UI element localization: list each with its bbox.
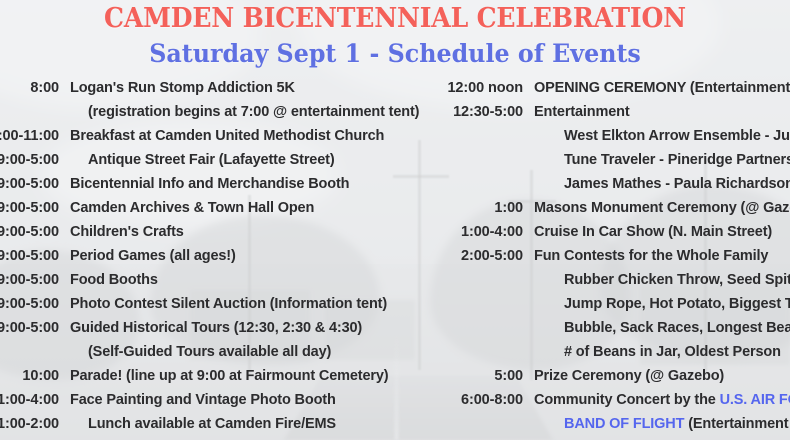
schedule-row: 2:00-5:00Fun Contests for the Whole Fami… [430,248,790,272]
schedule-row: 1:00Masons Monument Ceremony (@ Gazebo) [430,200,790,224]
schedule-row: James Mathes - Paula Richardson [430,176,790,200]
event-time: 10:00 [0,368,70,384]
event-time: 2:00-5:00 [430,248,534,264]
event-time: 9:00-5:00 [0,200,70,216]
schedule-row: 8:00Logan's Run Stomp Addiction 5K [0,80,426,104]
schedule-column-morning: 8:00Logan's Run Stomp Addiction 5K(regis… [0,80,426,440]
schedule-row: 5:00Prize Ceremony (@ Gazebo) [430,368,790,392]
schedule-row: 9:00-5:00Camden Archives & Town Hall Ope… [0,200,426,224]
event-name: Photo Contest Silent Auction (Informatio… [70,296,387,312]
schedule-row: 9:00-5:00Food Booths [0,272,426,296]
event-name: Masons Monument Ceremony (@ Gazebo) [534,200,790,216]
event-name: Guided Historical Tours (12:30, 2:30 & 4… [70,320,362,336]
poster-header: CAMDEN BICENTENNIAL CELEBRATION Saturday… [0,0,790,68]
page-subtitle: Saturday Sept 1 - Schedule of Events [20,35,771,68]
schedule-row: 6:00-8:00Community Concert by the U.S. A… [430,392,790,416]
event-time: 9:00-5:00 [0,296,70,312]
event-name: Jump Rope, Hot Potato, Biggest Tomato, [534,296,790,312]
event-name: Bicentennial Info and Merchandise Booth [70,176,349,192]
event-name: Antique Street Fair (Lafayette Street) [70,152,335,168]
schedule-row: Bubble, Sack Races, Longest Beard, [430,320,790,344]
event-name: (Self-Guided Tours available all day) [70,344,331,360]
schedule-row: 9:00-5:00Antique Street Fair (Lafayette … [0,152,426,176]
schedule-row: 12:00 noonOPENING CEREMONY (Entertainmen… [430,80,790,104]
event-name: (registration begins at 7:00 @ entertain… [70,104,419,120]
event-highlight: U.S. AIR FORCE [720,392,790,408]
event-time: 12:00 noon [430,80,534,96]
event-name: Cruise In Car Show (N. Main Street) [534,224,772,240]
schedule-column-afternoon: 12:00 noonOPENING CEREMONY (Entertainmen… [430,80,790,440]
event-text: (Entertainment tent) [684,416,790,432]
event-time: 9:00-5:00 [0,152,70,168]
event-time: 9:00-5:00 [0,176,70,192]
event-time: 1:00-4:00 [430,224,534,240]
event-name: BAND OF FLIGHT (Entertainment tent) [534,416,790,432]
event-name: Fun Contests for the Whole Family [534,248,768,264]
schedule-row: West Elkton Arrow Ensemble - Jump N Jive [430,128,790,152]
schedule-row: Tune Traveler - Pineridge Partners [430,152,790,176]
event-time: 8:00-11:00 [0,128,70,144]
schedule-row: 9:00-5:00Photo Contest Silent Auction (I… [0,296,426,320]
event-name: Prize Ceremony (@ Gazebo) [534,368,724,384]
event-name: OPENING CEREMONY (Entertainment tent) [534,80,790,96]
event-time: 9:00-5:00 [0,224,70,240]
event-name: West Elkton Arrow Ensemble - Jump N Jive [534,128,790,144]
schedule-row: 9:00-5:00Bicentennial Info and Merchandi… [0,176,426,200]
schedule-row: 9:00-5:00Period Games (all ages!) [0,248,426,272]
schedule-row: # of Beans in Jar, Oldest Person [430,344,790,368]
schedule-row: 12:30-5:00Entertainment [430,104,790,128]
event-name: James Mathes - Paula Richardson [534,176,790,192]
event-name: Breakfast at Camden United Methodist Chu… [70,128,384,144]
schedule-row: (registration begins at 7:00 @ entertain… [0,104,426,128]
event-time: 8:00 [0,80,70,96]
schedule-row: 10:00Parade! (line up at 9:00 at Fairmou… [0,368,426,392]
schedule-row: Rubber Chicken Throw, Seed Spitting, [430,272,790,296]
event-name: Lunch available at Camden Fire/EMS [70,416,336,432]
event-name: Bubble, Sack Races, Longest Beard, [534,320,790,336]
schedule-row: Jump Rope, Hot Potato, Biggest Tomato, [430,296,790,320]
event-name: Parade! (line up at 9:00 at Fairmount Ce… [70,368,388,384]
event-name: Camden Archives & Town Hall Open [70,200,314,216]
event-name: Tune Traveler - Pineridge Partners [534,152,790,168]
event-name: Community Concert by the U.S. AIR FORCE [534,392,790,408]
event-name: Entertainment [534,104,630,120]
event-time: 6:00-8:00 [430,392,534,408]
event-poster: CAMDEN BICENTENNIAL CELEBRATION Saturday… [0,0,790,440]
event-name: Period Games (all ages!) [70,248,236,264]
event-name: Food Booths [70,272,158,288]
schedule-row: BAND OF FLIGHT (Entertainment tent) [430,416,790,440]
schedule-row: (Self-Guided Tours available all day) [0,344,426,368]
schedule-row: 11:00-2:00Lunch available at Camden Fire… [0,416,426,440]
schedule-row: 11:00-4:00Face Painting and Vintage Phot… [0,392,426,416]
event-time: 11:00-2:00 [0,416,70,432]
event-name: Face Painting and Vintage Photo Booth [70,392,336,408]
event-time: 11:00-4:00 [0,392,70,408]
page-title: CAMDEN BICENTENNIAL CELEBRATION [28,0,763,35]
event-time: 9:00-5:00 [0,272,70,288]
schedule-row: 9:00-5:00Children's Crafts [0,224,426,248]
event-highlight: BAND OF FLIGHT [564,416,684,432]
event-name: # of Beans in Jar, Oldest Person [534,344,781,360]
event-name: Children's Crafts [70,224,184,240]
event-time: 5:00 [430,368,534,384]
schedule-row: 8:00-11:00Breakfast at Camden United Met… [0,128,426,152]
event-text: Community Concert by the [534,392,720,408]
schedule-of-events: 8:00Logan's Run Stomp Addiction 5K(regis… [0,80,790,440]
event-name: Logan's Run Stomp Addiction 5K [70,80,295,96]
event-time: 12:30-5:00 [430,104,534,120]
schedule-row: 9:00-5:00Guided Historical Tours (12:30,… [0,320,426,344]
event-name: Rubber Chicken Throw, Seed Spitting, [534,272,790,288]
event-time: 9:00-5:00 [0,248,70,264]
schedule-row: 1:00-4:00Cruise In Car Show (N. Main Str… [430,224,790,248]
event-time: 1:00 [430,200,534,216]
event-time: 9:00-5:00 [0,320,70,336]
